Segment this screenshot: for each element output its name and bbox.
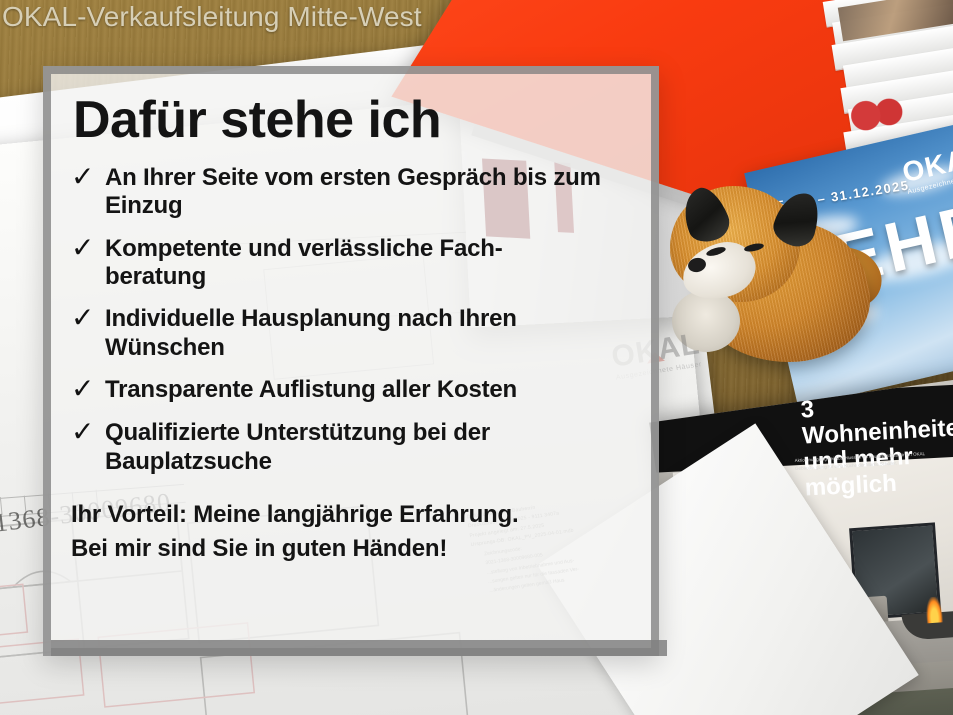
list-item-label: Qualifizierte Unterstützung bei der Baup… (105, 419, 629, 476)
benefits-list: ✓ An Ihrer Seite vom ersten Gespräch bis… (67, 164, 629, 476)
card-closing-statement: Ihr Vorteil: Meine langjährige Erfahrung… (71, 498, 629, 566)
brochure-okal-logo: OKAL Ausgezeichnete Häuser (900, 141, 953, 196)
photo-flame (925, 596, 943, 623)
check-icon: ✓ (67, 162, 105, 191)
list-item: ✓ Qualifizierte Unterstützung bei der Ba… (67, 419, 629, 476)
fox-head (670, 186, 800, 302)
check-icon: ✓ (67, 417, 105, 446)
card-footer-bar (51, 640, 667, 656)
fox-ear-left (675, 182, 734, 248)
content-card: Dafür stehe ich ✓ An Ihrer Seite vom ers… (43, 66, 659, 656)
check-icon: ✓ (67, 303, 105, 332)
list-item: ✓ Kompetente und verlässliche Fach- bera… (67, 235, 629, 292)
page-title: OKAL-Verkaufsleitung Mitte-West (2, 1, 422, 33)
brochure-slogan: 3 Wohneinheiten und mehr möglich (800, 388, 953, 501)
list-item-label: An Ihrer Seite vom ersten Gespräch bis z… (105, 164, 629, 221)
list-item: ✓ Transparente Auflistung aller Kosten (67, 376, 629, 405)
fox-eye-right (743, 242, 764, 253)
list-item: ✓ Individuelle Hausplanung nach Ihren Wü… (67, 305, 629, 362)
list-item-label: Individuelle Hausplanung nach Ihren Wüns… (105, 305, 629, 362)
check-icon: ✓ (67, 374, 105, 403)
card-heading: Dafür stehe ich (73, 94, 629, 146)
check-icon: ✓ (67, 233, 105, 262)
list-item-label: Transparente Auflistung aller Kosten (105, 376, 517, 404)
list-item: ✓ An Ihrer Seite vom ersten Gespräch bis… (67, 164, 629, 221)
screenshot-root: 1368-30009680 15.03. – 31.12.2025 MEHR O… (0, 0, 953, 715)
list-item-label: Kompetente und verlässliche Fach- beratu… (105, 235, 503, 292)
